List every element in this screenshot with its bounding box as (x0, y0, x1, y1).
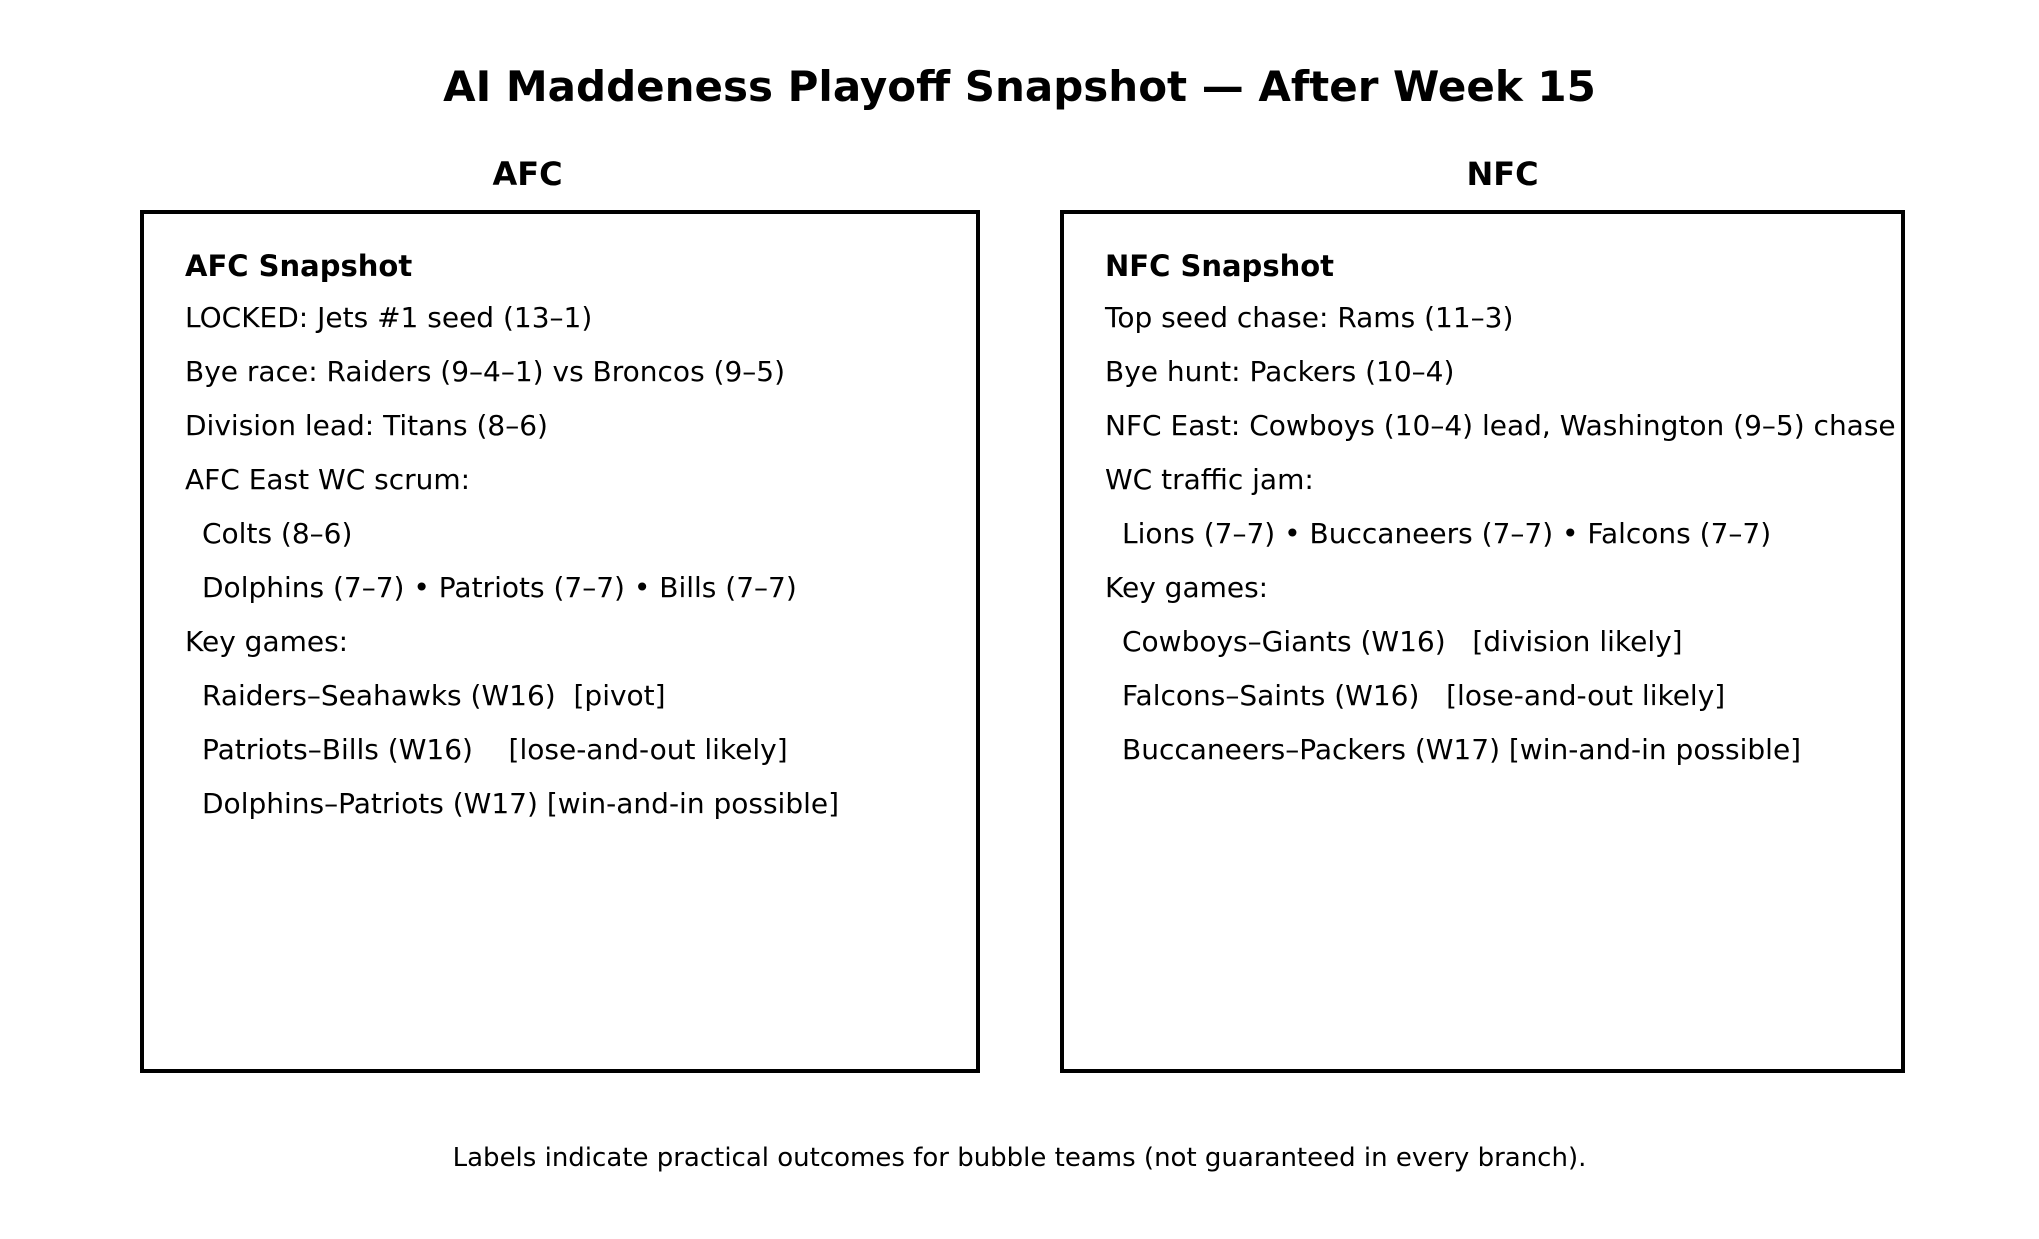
snapshot-line: Falcons–Saints (W16) [lose-and-out likel… (1105, 669, 1895, 723)
snapshot-line: Lions (7–7) • Buccaneers (7–7) • Falcons… (1105, 507, 1895, 561)
panel-header-nfc: NFC (1430, 155, 1575, 193)
snapshot-line: Colts (8–6) (185, 507, 970, 561)
afc-panel: AFC Snapshot LOCKED: Jets #1 seed (13–1)… (140, 210, 980, 1073)
snapshot-line: Raiders–Seahawks (W16) [pivot] (185, 669, 970, 723)
snapshot-line: Buccaneers–Packers (W17) [win-and-in pos… (1105, 723, 1895, 777)
footer-caption: Labels indicate practical outcomes for b… (0, 1143, 2039, 1173)
snapshot-line: NFC East: Cowboys (10–4) lead, Washingto… (1105, 399, 1895, 453)
snapshot-line: Division lead: Titans (8–6) (185, 399, 970, 453)
snapshot-line: Cowboys–Giants (W16) [division likely] (1105, 615, 1895, 669)
snapshot-line: WC traffic jam: (1105, 453, 1895, 507)
nfc-panel-body: NFC Snapshot Top seed chase: Rams (11–3)… (1105, 247, 1895, 777)
snapshot-line: Bye hunt: Packers (10–4) (1105, 345, 1895, 399)
nfc-panel: NFC Snapshot Top seed chase: Rams (11–3)… (1060, 210, 1905, 1073)
afc-snapshot-title: AFC Snapshot (185, 247, 970, 285)
snapshot-line: Patriots–Bills (W16) [lose-and-out likel… (185, 723, 970, 777)
snapshot-line: Dolphins (7–7) • Patriots (7–7) • Bills … (185, 561, 970, 615)
snapshot-line: LOCKED: Jets #1 seed (13–1) (185, 291, 970, 345)
figure-title: AI Maddeness Playoff Snapshot — After We… (0, 62, 2039, 111)
snapshot-line: AFC East WC scrum: (185, 453, 970, 507)
snapshot-line: Top seed chase: Rams (11–3) (1105, 291, 1895, 345)
afc-lines-container: LOCKED: Jets #1 seed (13–1)Bye race: Rai… (185, 291, 970, 831)
nfc-snapshot-title: NFC Snapshot (1105, 247, 1895, 285)
snapshot-line: Dolphins–Patriots (W17) [win-and-in poss… (185, 777, 970, 831)
nfc-lines-container: Top seed chase: Rams (11–3)Bye hunt: Pac… (1105, 291, 1895, 777)
afc-panel-body: AFC Snapshot LOCKED: Jets #1 seed (13–1)… (185, 247, 970, 831)
snapshot-line: Key games: (1105, 561, 1895, 615)
panel-header-afc: AFC (455, 155, 600, 193)
snapshot-line: Bye race: Raiders (9–4–1) vs Broncos (9–… (185, 345, 970, 399)
snapshot-line: Key games: (185, 615, 970, 669)
